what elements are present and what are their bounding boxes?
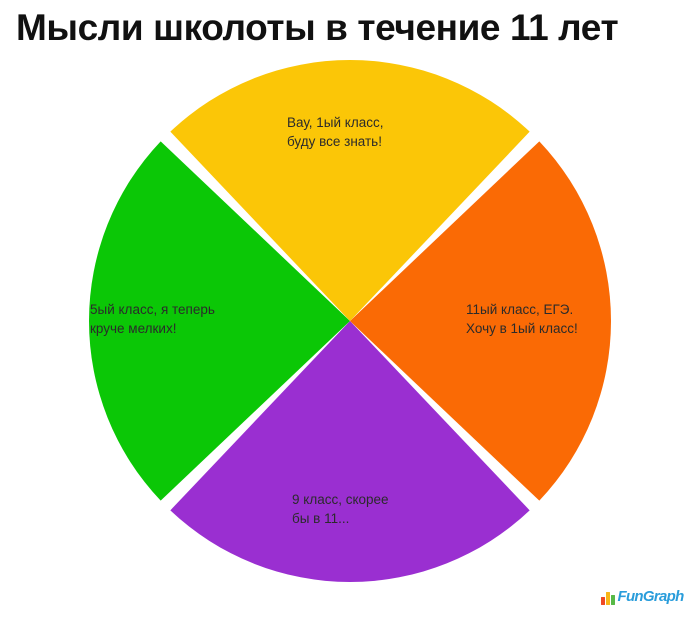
chart-page: Мысли школоты в течение 11 лет Вау, 1ый … (0, 0, 700, 618)
pie-slice-label-green: 9 класс, скорее бы в 11... (292, 490, 389, 528)
pie-slice-label-purple: 11ый класс, ЕГЭ. Хочу в 1ый класс! (466, 300, 578, 338)
pie-slice-label-yellow: 5ый класс, я теперь круче мелких! (90, 300, 215, 338)
watermark: FunGraph (601, 583, 689, 605)
bar-chart-icon (601, 590, 615, 605)
watermark-brand: FunGraph (618, 589, 684, 605)
pie-slice-label-orange: Вау, 1ый класс, буду все знать! (287, 113, 383, 151)
pie-chart: Вау, 1ый класс, буду все знать! 11ый кла… (0, 0, 700, 618)
